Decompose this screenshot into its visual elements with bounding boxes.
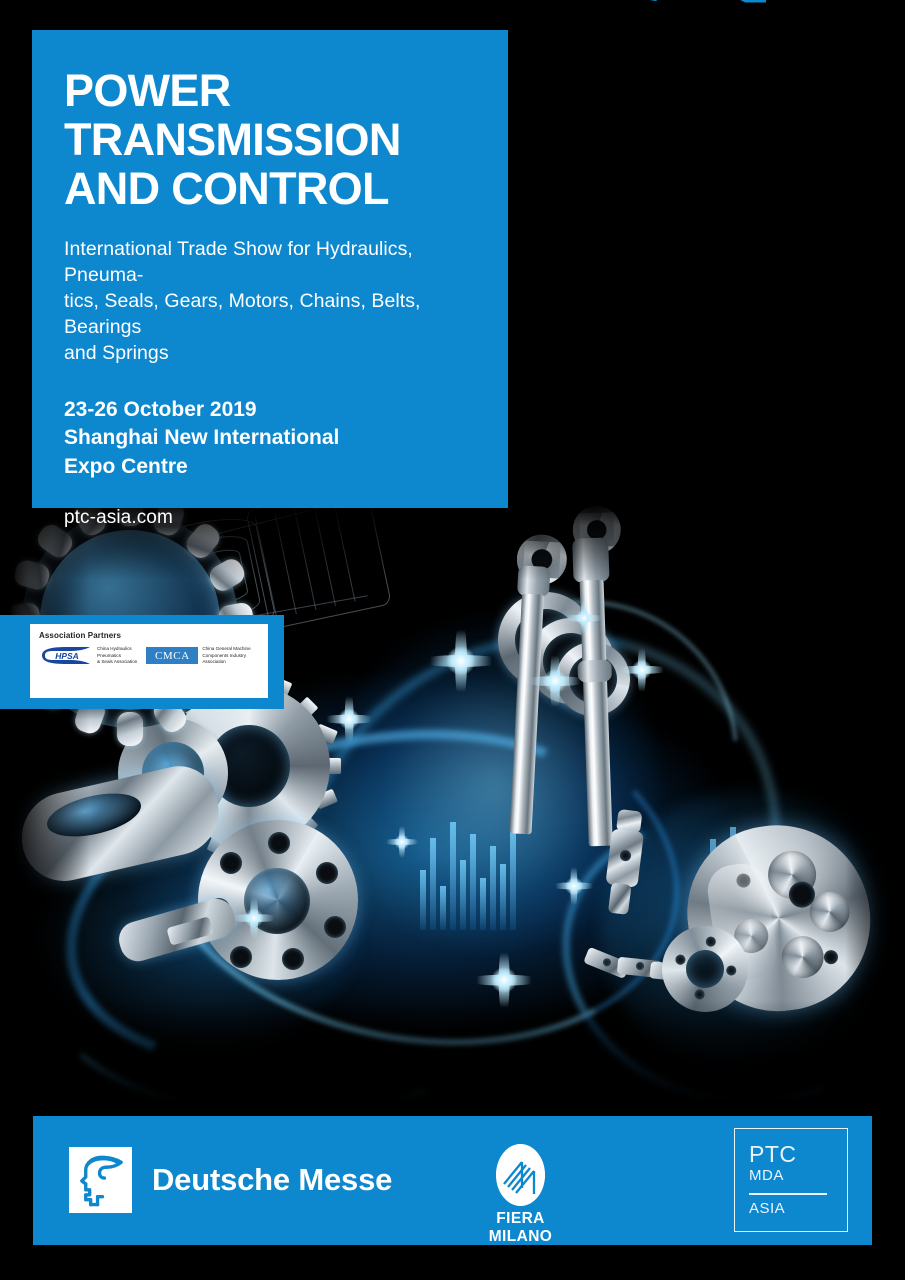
show-mark-ptc: PTC xyxy=(749,1143,847,1166)
hero-machinery-image xyxy=(0,490,905,1130)
website-link[interactable]: ptc-asia.com xyxy=(64,507,474,529)
event-date: 23-26 October 2019 xyxy=(64,396,474,425)
cmca-logo-text: CMCA xyxy=(155,650,190,662)
co-organizer-name: FIERA MILANO xyxy=(463,1210,578,1246)
event-details: 23-26 October 2019 Shanghai New Internat… xyxy=(64,396,474,482)
show-mark-divider xyxy=(749,1193,827,1194)
co-organizer-logo[interactable]: FIERA MILANO xyxy=(463,1144,578,1246)
organizer-name: Deutsche Messe xyxy=(152,1162,392,1198)
page-title: POWER TRANSMISSION AND CONTROL xyxy=(64,66,474,213)
cmca-name-line-1: China General Machine xyxy=(202,646,250,653)
subtitle: International Trade Show for Hydraulics,… xyxy=(64,237,474,367)
hpsa-name: China Hydraulics Pneumatics & Seals Asso… xyxy=(97,646,137,666)
subtitle-line-2: tics, Seals, Gears, Motors, Chains, Belt… xyxy=(64,289,474,341)
show-mark-mda: MDA xyxy=(749,1166,847,1186)
hpsa-name-line-3: & Seals Association xyxy=(97,659,137,666)
show-mark-box: PTC MDA ASIA xyxy=(734,1128,848,1232)
cmca-logo-icon: CMCA xyxy=(146,647,198,664)
footer-bar: Deutsche Messe FIERA MILANO xyxy=(33,1116,872,1245)
partner-hpsa: HPSA China Hydraulics Pneumatics & Seals… xyxy=(38,646,137,666)
cmca-name: China General Machine Components Industr… xyxy=(202,646,250,666)
organizer-logo[interactable]: Deutsche Messe xyxy=(69,1147,392,1213)
headline-panel: POWER TRANSMISSION AND CONTROL Internati… xyxy=(32,30,508,508)
association-partners-card: Association Partners HPSA China Hydrauli… xyxy=(30,624,268,698)
svg-text:HPSA: HPSA xyxy=(55,651,79,661)
title-line-3: AND CONTROL xyxy=(64,164,474,213)
association-partners-heading: Association Partners xyxy=(39,631,260,640)
subtitle-line-3: and Springs xyxy=(64,341,474,367)
venue-line-1: Shanghai New International xyxy=(64,424,474,453)
show-mark-asia: ASIA xyxy=(749,1200,847,1217)
partner-cmca: CMCA China General Machine Components In… xyxy=(146,646,250,666)
poster-canvas: 2019 POWER TRANSMISSION AND CONTROL Inte… xyxy=(0,0,905,1280)
hero-fade-bottom xyxy=(0,1000,905,1130)
year-text: 2019 xyxy=(598,0,816,10)
title-line-1: POWER xyxy=(64,66,474,115)
hermes-head-icon xyxy=(69,1147,132,1213)
fiera-milano-circle-icon xyxy=(496,1144,545,1206)
hpsa-logo-icon: HPSA xyxy=(38,646,93,665)
hpsa-name-line-1: China Hydraulics xyxy=(97,646,137,653)
cmca-name-line-3: Association xyxy=(202,659,250,666)
venue-line-2: Expo Centre xyxy=(64,453,474,482)
subtitle-line-1: International Trade Show for Hydraulics,… xyxy=(64,237,474,289)
title-line-2: TRANSMISSION xyxy=(64,115,474,164)
